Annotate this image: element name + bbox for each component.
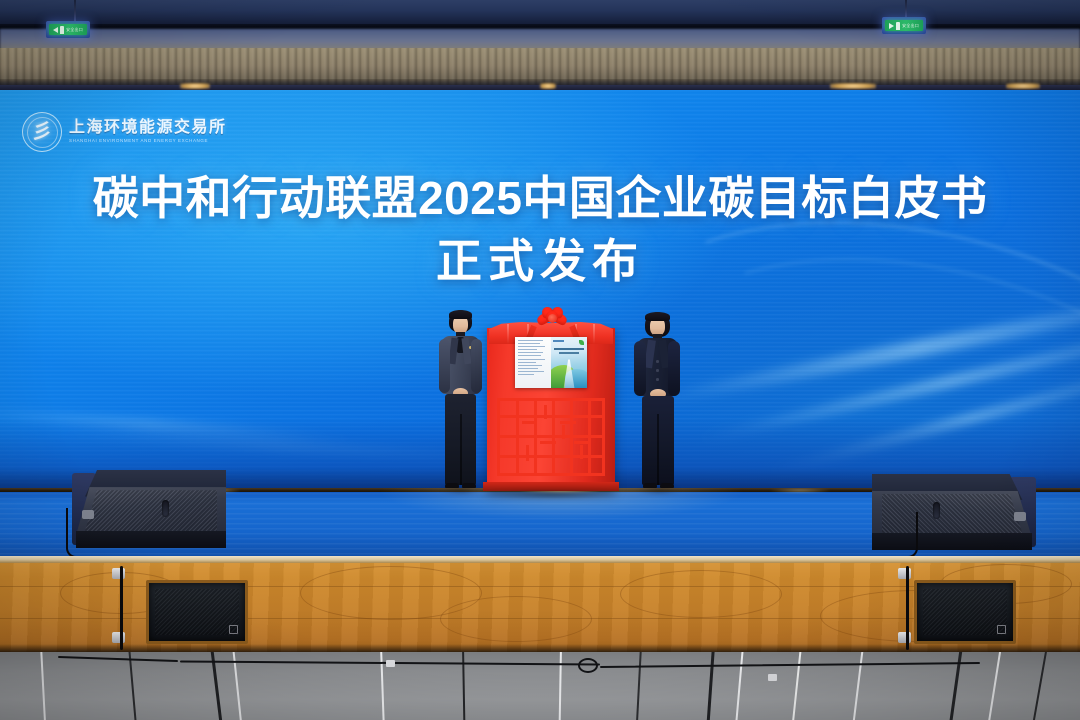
apron-top-edge — [0, 556, 1080, 563]
floor-cable — [600, 662, 980, 668]
auditorium-carpet — [0, 652, 1080, 720]
cable-bracket — [898, 632, 911, 643]
apron-cable-right — [906, 566, 909, 650]
ceremony-podium — [487, 306, 615, 491]
wall-lamp — [180, 83, 210, 89]
poster-back-cover — [515, 337, 551, 388]
presenter-right-button — [656, 378, 659, 381]
stage-monitor-speaker-right — [872, 474, 1032, 550]
running-person-icon — [896, 22, 900, 30]
exchange-logo-glyph: 彡 — [31, 122, 54, 142]
exit-sign-right-rod — [905, 0, 907, 18]
exit-sign-right-label: 安全出口 — [902, 24, 919, 28]
exit-sign-left-panel: 安全出口 — [49, 24, 87, 35]
coiled-cable — [578, 658, 598, 673]
cable-bracket — [112, 632, 125, 643]
poster-title-bar — [554, 348, 584, 350]
exchange-logo-mark-icon: 彡 — [22, 112, 62, 152]
ribbon-bow — [537, 306, 567, 330]
wall-lamp — [1006, 83, 1040, 89]
speaker-cable-right — [900, 512, 918, 558]
presenter-left-fringe — [449, 310, 472, 319]
exchange-logo-text: 上海环境能源交易所 SHANGHAI ENVIRONMENT AND ENERG… — [69, 120, 227, 144]
presenter-right-arm — [634, 341, 646, 396]
presenter-right-arm — [668, 341, 680, 396]
presenter-right-button — [656, 369, 659, 372]
stage-apron — [0, 556, 1080, 654]
arrow-right-icon — [889, 23, 894, 29]
presenter-left-arm — [439, 339, 450, 393]
speaker-brand-icon — [229, 625, 238, 634]
presenter-left-arm — [471, 339, 482, 393]
exchange-logo: 彡 上海环境能源交易所 SHANGHAI ENVIRONMENT AND ENE… — [22, 112, 227, 152]
speaker-handle — [162, 500, 169, 517]
speaker-brand-icon — [997, 625, 1006, 634]
exchange-logo-en: SHANGHAI ENVIRONMENT AND ENERGY EXCHANGE — [69, 139, 227, 144]
arrow-left-icon — [53, 27, 58, 33]
wall-lamp — [830, 83, 876, 89]
speaker-handle — [933, 502, 940, 519]
headline-line-1: 碳中和行动联盟2025中国企业碳目标白皮书 — [0, 174, 1080, 223]
running-person-icon — [60, 26, 64, 34]
exit-sign-right: 安全出口 — [882, 17, 926, 34]
cable-clip — [768, 674, 777, 681]
apron-front-fill-speaker-right — [914, 580, 1016, 644]
poster-subtitle-bar — [559, 352, 579, 354]
exchange-logo-cn: 上海环境能源交易所 — [69, 120, 227, 136]
cable-bracket — [112, 568, 125, 579]
presenter-right-leg-split — [657, 414, 659, 485]
poster-front-cover — [551, 337, 587, 388]
exit-sign-left: 安全出口 — [46, 21, 90, 38]
backdrop-headline: 碳中和行动联盟2025中国企业碳目标白皮书 正式发布 — [0, 174, 1080, 286]
exit-sign-left-label: 安全出口 — [66, 28, 83, 32]
presenter-left-reflection — [440, 486, 482, 495]
speaker-connector — [1014, 512, 1026, 521]
presenter-right-button — [656, 360, 659, 363]
leaf-icon — [579, 340, 584, 345]
chinese-lattice-panel — [497, 398, 605, 476]
cable-clip — [386, 660, 395, 667]
speaker-cable-left — [66, 508, 86, 558]
ribbon-bow-center — [548, 314, 557, 323]
presenter-left-leg-split — [460, 414, 462, 485]
poster-logo-bar — [553, 340, 564, 342]
wall-lamp — [540, 83, 556, 89]
white-paper-cover-poster — [515, 337, 587, 388]
presenter-right-reflection — [637, 486, 681, 495]
cable-bracket — [898, 568, 911, 579]
presenter-right — [628, 312, 686, 492]
presenter-right-fringe — [645, 312, 670, 321]
apron-front-fill-speaker-left — [146, 580, 248, 644]
exit-sign-left-rod — [74, 0, 76, 22]
stage-monitor-speaker-left — [76, 470, 226, 548]
wall-wood-slats — [0, 48, 1080, 88]
floor-cable — [58, 656, 178, 662]
stage-photograph: 安全出口 安全出口 彡 上海环境能源交易所 SHANGHAI ENVIRONME… — [0, 0, 1080, 720]
headline-line-2: 正式发布 — [0, 237, 1080, 286]
exit-sign-right-panel: 安全出口 — [885, 20, 923, 31]
podium-shadow — [481, 490, 621, 499]
apron-cable-left — [120, 566, 123, 650]
presenter-left — [432, 310, 488, 492]
